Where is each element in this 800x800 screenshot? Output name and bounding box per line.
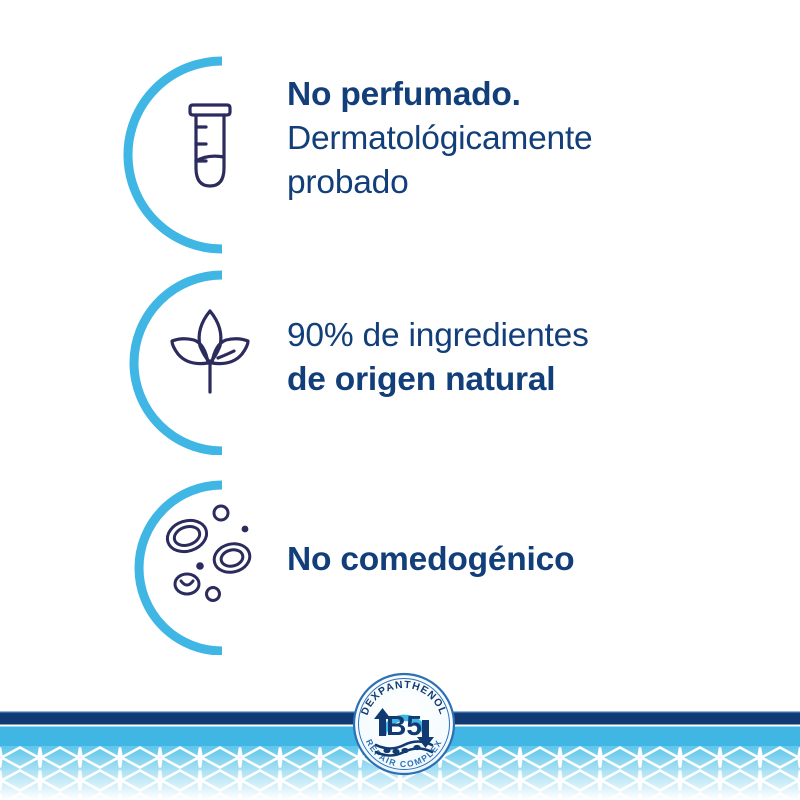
- plant-leaf-icon: [160, 270, 270, 460]
- feature-line: 90% de ingredientes: [287, 314, 589, 358]
- feature-text-non-comedogenic: No comedogénico: [287, 538, 574, 582]
- feature-line: No perfumado.: [287, 73, 593, 117]
- badge-center-text: B5: [386, 710, 422, 741]
- feature-line: No comedogénico: [287, 538, 574, 582]
- promo-panel: No perfumado. Dermatológicamente probado: [0, 0, 800, 800]
- feature-row-non-comedogenic: No comedogénico: [0, 480, 800, 652]
- feature-line: de origen natural: [287, 358, 589, 402]
- test-tube-icon: [160, 55, 270, 260]
- feature-line: probado: [287, 161, 593, 205]
- b5-repair-complex-badge: DEXPANTHENOL REPAIR COMPLEX B5: [352, 672, 456, 776]
- feature-text-natural-origin: 90% de ingredientes de origen natural: [287, 314, 589, 402]
- feature-row-fragrance-free: No perfumado. Dermatológicamente probado: [0, 55, 800, 255]
- skin-pores-icon: [160, 480, 270, 660]
- feature-text-fragrance-free: No perfumado. Dermatológicamente probado: [287, 73, 593, 205]
- feature-row-natural-origin: 90% de ingredientes de origen natural: [0, 270, 800, 452]
- feature-line: Dermatológicamente: [287, 117, 593, 161]
